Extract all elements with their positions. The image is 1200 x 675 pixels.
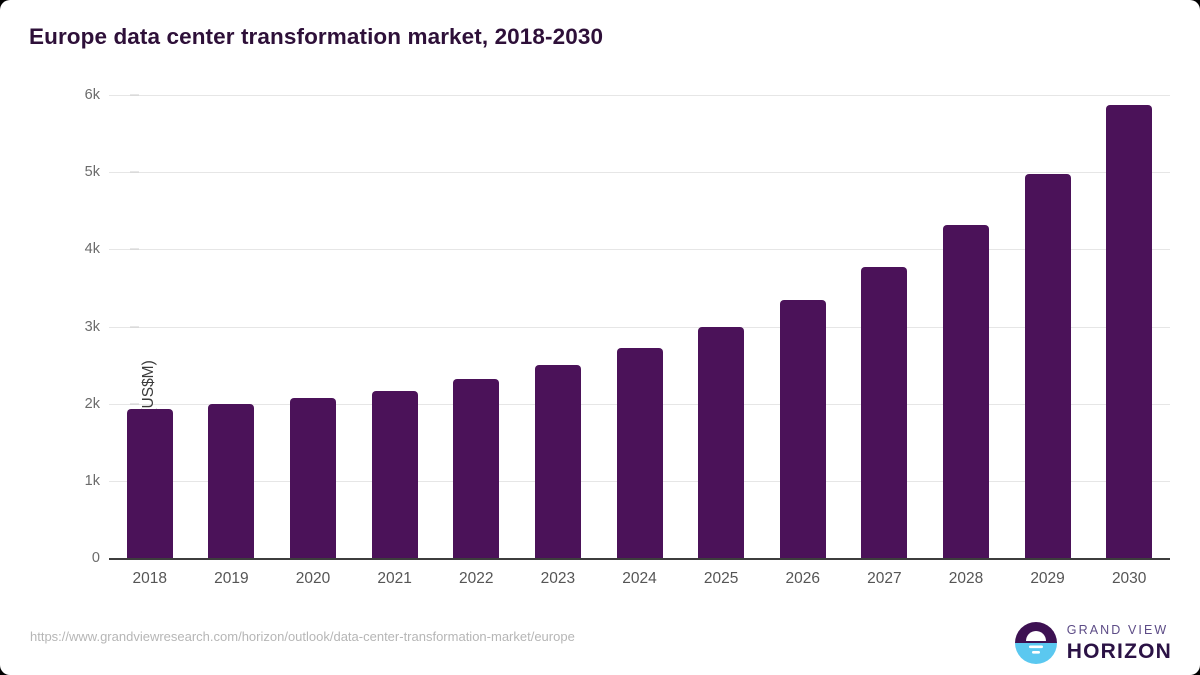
- bar-2021[interactable]: [372, 391, 418, 558]
- logo-line-grand-view: GRAND VIEW: [1067, 624, 1172, 637]
- y-axis-tick-labels: 01k2k3k4k5k6k: [30, 0, 100, 675]
- x-axis-line: [109, 558, 1170, 560]
- bar-2024[interactable]: [617, 348, 663, 558]
- brand-logo[interactable]: GRAND VIEW HORIZON: [1014, 620, 1172, 666]
- x-tick-label-2023: 2023: [518, 570, 598, 588]
- bar-2026[interactable]: [780, 300, 826, 558]
- y-tick-label: 3k: [40, 319, 100, 335]
- y-tick-label: 5k: [40, 164, 100, 180]
- bar-2028[interactable]: [943, 225, 989, 558]
- x-tick-label-2028: 2028: [926, 570, 1006, 588]
- x-tick-label-2025: 2025: [681, 570, 761, 588]
- y-tick-label: 6k: [40, 87, 100, 103]
- page-title: Europe data center transformation market…: [29, 24, 603, 50]
- logo-wordmark: GRAND VIEW HORIZON: [1067, 624, 1172, 662]
- x-axis-tick-labels: 2018201920202021202220232024202520262027…: [109, 570, 1170, 596]
- x-tick-label-2030: 2030: [1089, 570, 1169, 588]
- bar-2029[interactable]: [1025, 174, 1071, 558]
- x-tick-label-2026: 2026: [763, 570, 843, 588]
- horizon-sun-circle-icon: [1014, 621, 1058, 665]
- y-tick-label: 2k: [40, 396, 100, 412]
- bar-2023[interactable]: [535, 365, 581, 558]
- y-tick-label: 4k: [40, 241, 100, 257]
- y-tick-label: 0: [40, 550, 100, 566]
- x-tick-label-2024: 2024: [600, 570, 680, 588]
- bar-2027[interactable]: [861, 267, 907, 558]
- bar-2025[interactable]: [698, 327, 744, 559]
- bar-2030[interactable]: [1106, 105, 1152, 558]
- source-url[interactable]: https://www.grandviewresearch.com/horizo…: [30, 629, 575, 644]
- x-tick-label-2027: 2027: [844, 570, 924, 588]
- x-tick-label-2029: 2029: [1008, 570, 1088, 588]
- bars-layer: [109, 95, 1170, 558]
- bar-2020[interactable]: [290, 398, 336, 559]
- x-tick-label-2018: 2018: [110, 570, 190, 588]
- chart-page: Europe data center transformation market…: [0, 0, 1200, 675]
- bar-2019[interactable]: [208, 404, 254, 558]
- x-tick-label-2019: 2019: [191, 570, 271, 588]
- x-tick-label-2020: 2020: [273, 570, 353, 588]
- bar-2022[interactable]: [453, 379, 499, 558]
- x-tick-label-2022: 2022: [436, 570, 516, 588]
- logo-line-horizon: HORIZON: [1067, 641, 1172, 662]
- y-tick-label: 1k: [40, 473, 100, 489]
- bar-2018[interactable]: [127, 409, 173, 558]
- x-tick-label-2021: 2021: [355, 570, 435, 588]
